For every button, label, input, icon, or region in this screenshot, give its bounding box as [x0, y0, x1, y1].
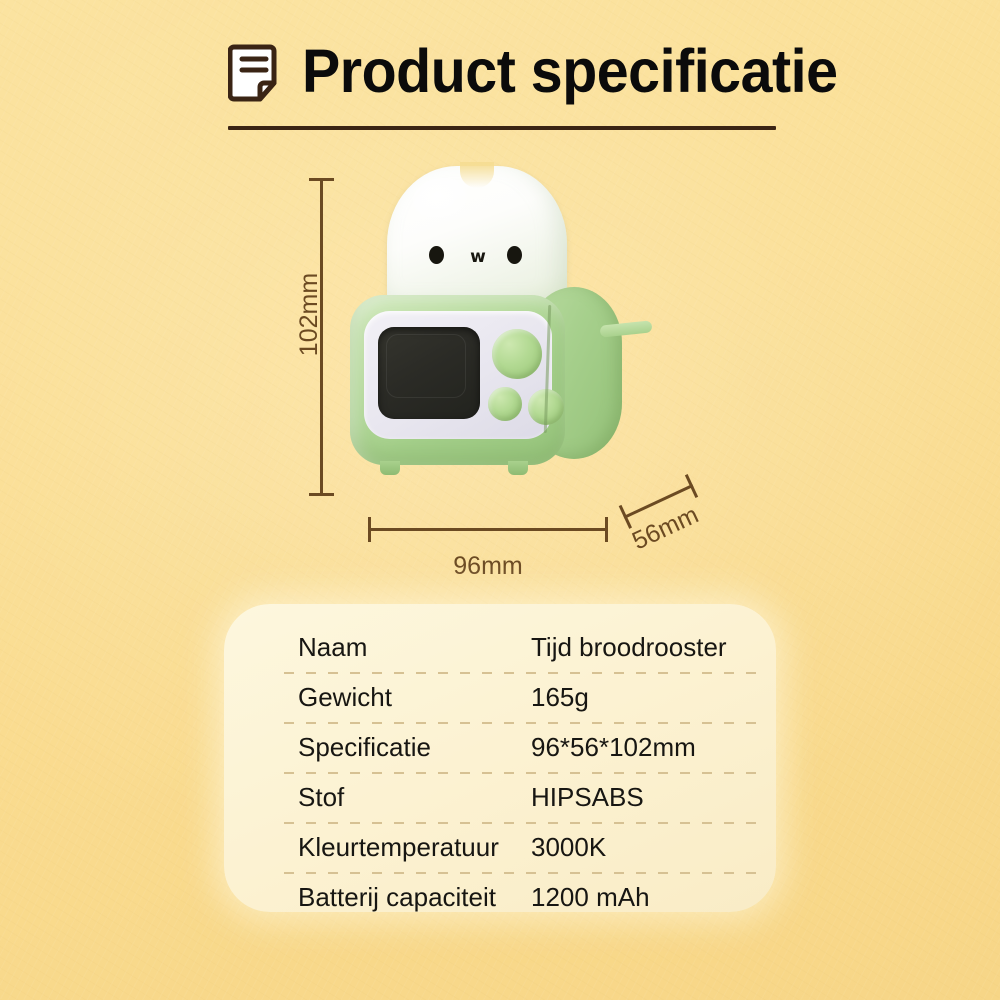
- width-dimension-line: [368, 528, 608, 531]
- spec-label: Naam: [298, 632, 531, 663]
- product-button-large: [492, 329, 542, 379]
- spec-value: 165g: [531, 682, 589, 713]
- product-body: [350, 295, 620, 475]
- right-eye-icon: [507, 246, 522, 264]
- table-row: Kleurtemperatuur 3000K: [298, 822, 718, 872]
- table-row: Gewicht 165g: [298, 672, 718, 722]
- title-divider: [228, 126, 776, 130]
- spec-label: Stof: [298, 782, 531, 813]
- spec-label: Specificatie: [298, 732, 531, 763]
- mouth-icon: w: [469, 252, 487, 263]
- spec-value: 1200 mAh: [531, 882, 650, 913]
- table-row: Batterij capaciteit 1200 mAh: [298, 872, 718, 922]
- product-head: w: [387, 166, 567, 316]
- height-dimension-label: 102mm: [295, 273, 324, 356]
- table-row: Specificatie 96*56*102mm: [298, 722, 718, 772]
- table-row: Naam Tijd broodrooster: [298, 622, 718, 672]
- body-front-panel: [350, 295, 565, 465]
- product-foot-right: [508, 461, 528, 475]
- depth-dimension: 56mm: [618, 486, 708, 546]
- product-specification-page: Product specificatie w: [0, 0, 1000, 1000]
- left-eye-icon: [429, 246, 444, 264]
- page-header: Product specificatie: [228, 24, 788, 119]
- page-title: Product specificatie: [302, 41, 838, 102]
- control-faceplate: [364, 311, 552, 439]
- specification-panel: Naam Tijd broodrooster Gewicht 165g Spec…: [224, 604, 776, 912]
- spec-label: Kleurtemperatuur: [298, 832, 531, 863]
- width-dimension-label: 96mm: [368, 552, 608, 581]
- head-highlight: [413, 178, 475, 224]
- product-button-small-left: [488, 387, 522, 421]
- spec-value: 96*56*102mm: [531, 732, 696, 763]
- spec-value: Tijd broodrooster: [531, 632, 727, 663]
- display-screen: [378, 327, 480, 419]
- table-row: Stof HIPSABS: [298, 772, 718, 822]
- document-note-icon: [228, 43, 284, 105]
- spec-label: Gewicht: [298, 682, 531, 713]
- specification-table: Naam Tijd broodrooster Gewicht 165g Spec…: [298, 622, 718, 922]
- spec-label: Batterij capaciteit: [298, 882, 531, 913]
- spec-value: HIPSABS: [531, 782, 644, 813]
- spec-value: 3000K: [531, 832, 606, 863]
- product-foot-left: [380, 461, 400, 475]
